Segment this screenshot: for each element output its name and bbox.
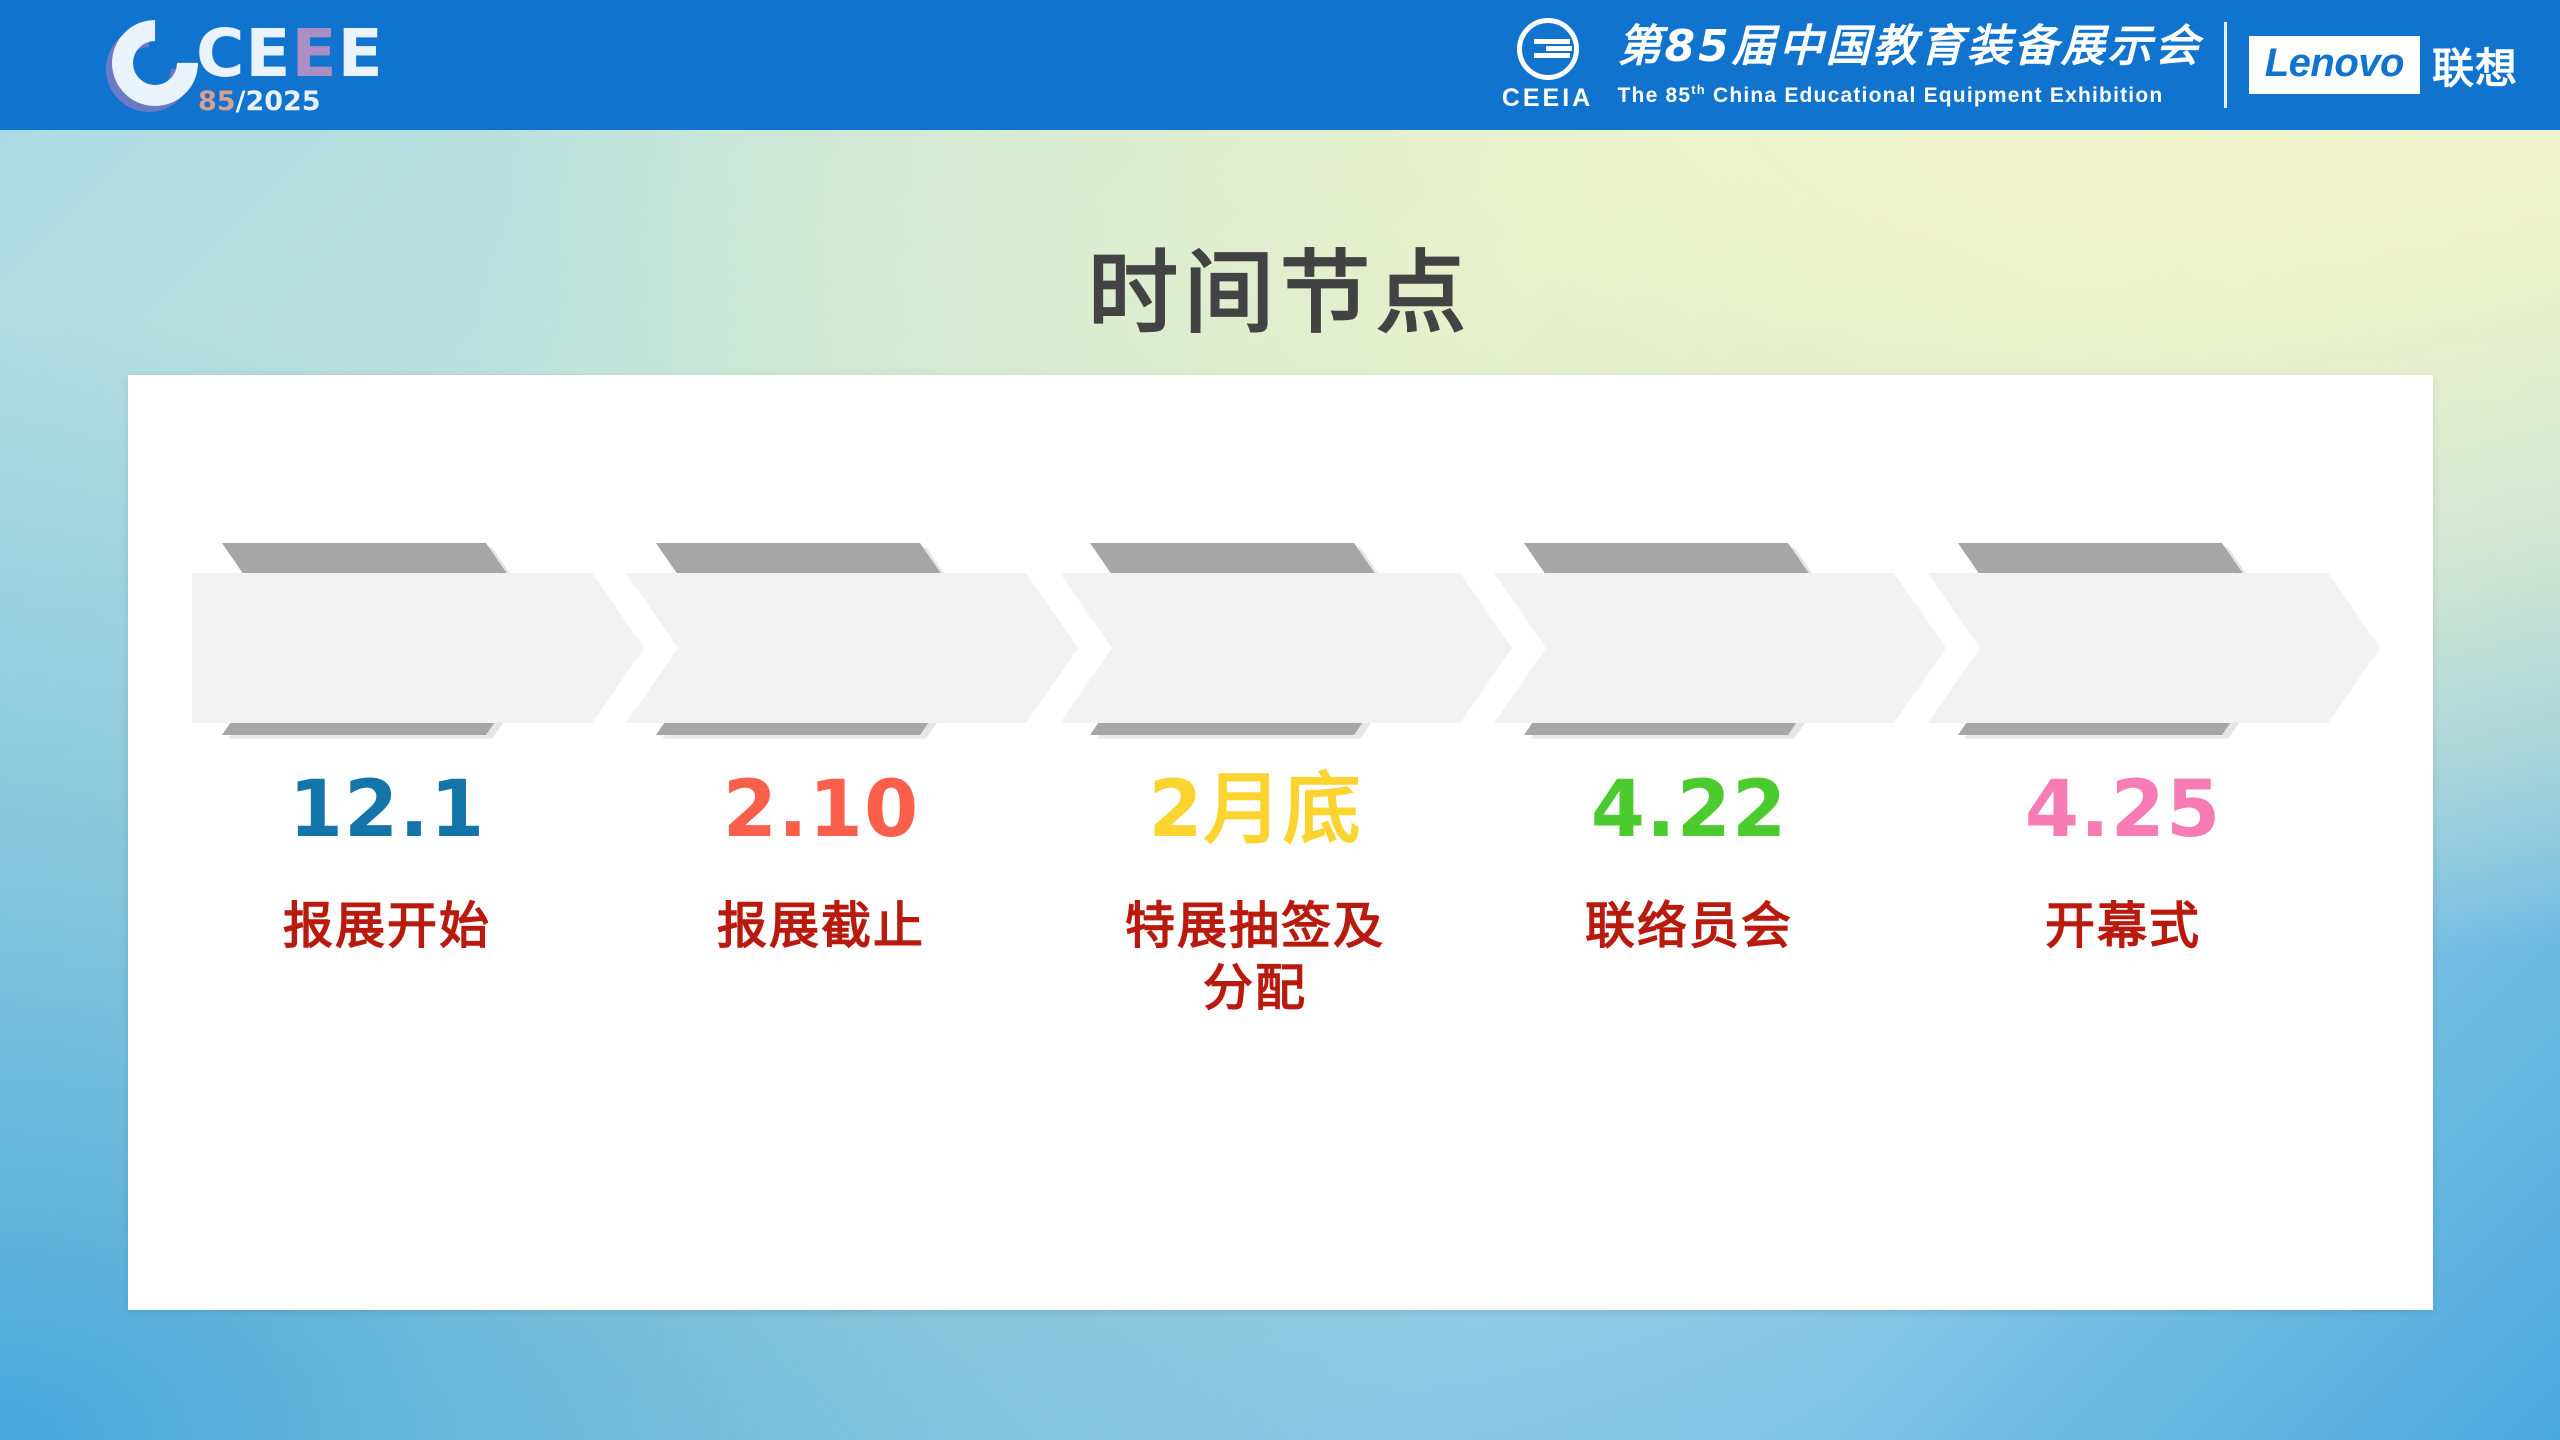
lenovo-logo: Lenovo 联想 (2249, 35, 2518, 96)
chevron-band-segment (192, 573, 644, 723)
header-divider (2224, 22, 2227, 108)
chevron-band-segment (1060, 573, 1512, 723)
ceeia-ring-icon (1517, 18, 1579, 80)
step-date: 4.22 (1516, 767, 1862, 853)
timeline-step[interactable]: 032月底特展抽签及 分配 (1082, 375, 1512, 1310)
chevron-band-segment (1494, 573, 1946, 723)
header-bar: CEEE 85/2025 CEEIA 第85届中国教育装备展示会 The 85t… (0, 0, 2560, 130)
content-panel: 0112.1报展开始022.10报展截止032月底特展抽签及 分配044.22联… (128, 375, 2433, 1310)
ceee-brand-logo: CEEE 85/2025 (104, 14, 324, 118)
step-caption: 开幕式 (1950, 895, 2296, 957)
step-caption: 报展截止 (648, 895, 994, 957)
chevron-band-segment (626, 573, 1078, 723)
header-right-lockup: CEEIA 第85届中国教育装备展示会 The 85th China Educa… (1500, 0, 2518, 130)
step-date: 2.10 (648, 767, 994, 853)
timeline-step[interactable]: 0112.1报展开始 (214, 375, 644, 1310)
logo-subtitle: 85/2025 (198, 88, 321, 116)
step-caption: 报展开始 (214, 895, 560, 957)
exhibition-title-cn: 第85届中国教育装备展示会 (1618, 21, 2202, 73)
chevron-background-band (192, 573, 2369, 723)
step-date: 12.1 (214, 767, 560, 853)
logo-letters-pre: CE (196, 15, 292, 92)
ceeia-abbreviation: CEEIA (1500, 84, 1596, 113)
exhibition-names: 第85届中国教育装备展示会 The 85th China Educational… (1618, 21, 2202, 110)
ceeia-logo: CEEIA (1500, 18, 1596, 113)
logo-letters: CEEE (196, 20, 384, 88)
page-title: 时间节点 (0, 220, 2560, 350)
lenovo-wordmark-cn: 联想 (2432, 35, 2518, 96)
step-caption: 联络员会 (1516, 895, 1862, 957)
logo-sub-number: 85 (198, 86, 236, 117)
timeline-step[interactable]: 022.10报展截止 (648, 375, 1078, 1310)
expo-en-post: China Educational Equipment Exhibition (1706, 84, 2163, 107)
step-caption: 特展抽签及 分配 (1082, 895, 1428, 1019)
timeline-step[interactable]: 054.25开幕式 (1950, 375, 2380, 1310)
step-date: 4.25 (1950, 767, 2296, 853)
timeline-steps: 0112.1报展开始022.10报展截止032月底特展抽签及 分配044.22联… (128, 375, 2433, 1310)
lenovo-wordmark: Lenovo (2249, 36, 2420, 94)
logo-sub-year: /2025 (236, 86, 321, 117)
expo-en-ordinal: th (1691, 82, 1706, 97)
logo-letters-glitch: E (292, 15, 338, 92)
step-date: 2月底 (1082, 767, 1428, 853)
timeline-step[interactable]: 044.22联络员会 (1516, 375, 1946, 1310)
exhibition-title-en: The 85th China Educational Equipment Exh… (1618, 76, 2202, 110)
expo-en-pre: The 85 (1618, 84, 1692, 107)
logo-letters-post: E (338, 15, 384, 92)
chevron-band-segment (1928, 573, 2380, 723)
